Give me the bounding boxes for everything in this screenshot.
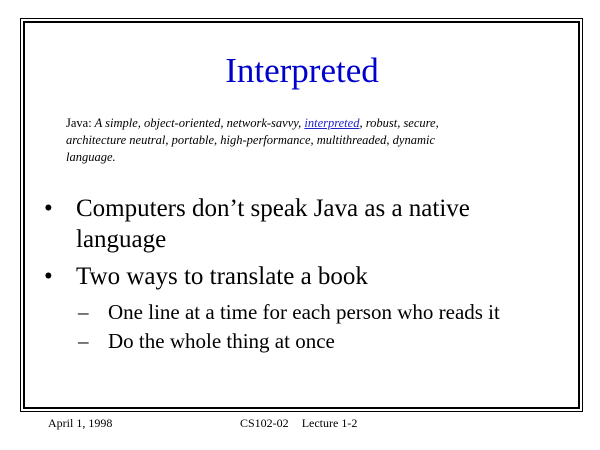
definition-highlight-interpreted: interpreted	[304, 116, 359, 130]
slide-footer: April 1, 1998 CS102-02Lecture 1-2	[0, 415, 600, 435]
java-definition-paragraph: Java: A simple, object-oriented, network…	[66, 115, 486, 166]
footer-course-lecture: CS102-02Lecture 1-2	[240, 415, 357, 431]
list-item-text: Computers don’t speak Java as a native l…	[76, 193, 546, 255]
sub-list-item: – One line at a time for each person who…	[40, 298, 560, 326]
sub-list-item-text: One line at a time for each person who r…	[108, 298, 560, 326]
bullet-marker-dot: •	[44, 261, 53, 292]
bullet-marker-dash: –	[78, 327, 89, 355]
definition-part-one: A simple, object-oriented, network-savvy…	[92, 116, 305, 130]
bullet-list: • Computers don’t speak Java as a native…	[40, 193, 560, 356]
list-item: • Computers don’t speak Java as a native…	[40, 193, 560, 255]
page-title: Interpreted	[24, 51, 580, 91]
footer-date: April 1, 1998	[48, 415, 112, 431]
sub-list-item-text: Do the whole thing at once	[108, 327, 560, 355]
bullet-marker-dash: –	[78, 298, 89, 326]
list-item-text: Two ways to translate a book	[76, 261, 546, 292]
bullet-marker-dot: •	[44, 193, 53, 224]
footer-course-code: CS102-02	[240, 416, 289, 430]
definition-lead-label: Java:	[66, 116, 92, 130]
footer-lecture-number: Lecture 1-2	[302, 416, 358, 430]
sub-list-item: – Do the whole thing at once	[40, 327, 560, 355]
list-item: • Two ways to translate a book	[40, 261, 560, 292]
slide: Interpreted Java: A simple, object-orien…	[0, 0, 600, 450]
